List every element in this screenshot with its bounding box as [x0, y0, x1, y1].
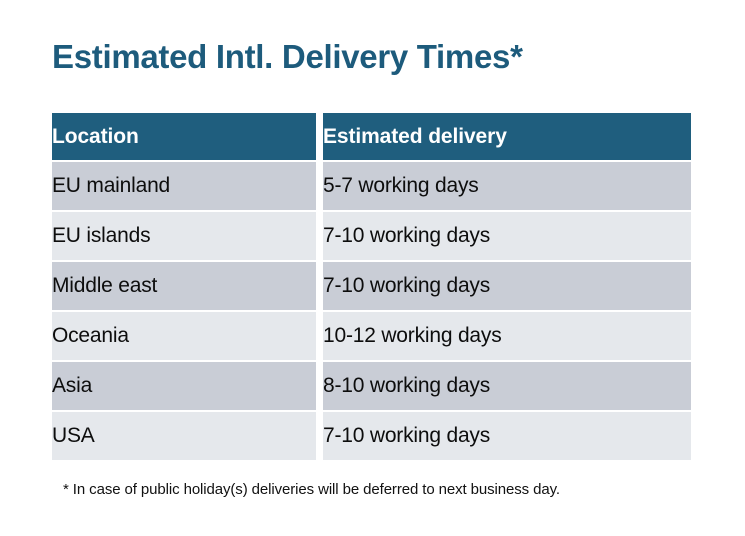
cell-location: Middle east	[52, 262, 316, 310]
table-row: Middle east 7-10 working days	[52, 262, 691, 310]
cell-delivery: 5-7 working days	[323, 162, 691, 210]
cell-location: Asia	[52, 362, 316, 410]
table-header-row: Location Estimated delivery	[52, 113, 691, 160]
column-gap	[316, 312, 323, 360]
column-gap	[316, 212, 323, 260]
column-header-location: Location	[52, 113, 316, 160]
cell-delivery: 7-10 working days	[323, 262, 691, 310]
cell-delivery: 7-10 working days	[323, 412, 691, 460]
page-title: Estimated Intl. Delivery Times*	[52, 38, 523, 76]
column-gap	[316, 362, 323, 410]
table-body: EU mainland 5-7 working days EU islands …	[52, 160, 691, 460]
table-header: Location Estimated delivery	[52, 113, 691, 160]
cell-location: EU mainland	[52, 162, 316, 210]
table-row: EU islands 7-10 working days	[52, 212, 691, 260]
cell-location: EU islands	[52, 212, 316, 260]
cell-delivery: 10-12 working days	[323, 312, 691, 360]
column-gap	[316, 162, 323, 210]
column-gap	[316, 113, 323, 160]
cell-delivery: 8-10 working days	[323, 362, 691, 410]
column-gap	[316, 262, 323, 310]
table-row: Asia 8-10 working days	[52, 362, 691, 410]
footnote: * In case of public holiday(s) deliverie…	[63, 481, 560, 498]
table-row: Oceania 10-12 working days	[52, 312, 691, 360]
cell-location: Oceania	[52, 312, 316, 360]
table-row: USA 7-10 working days	[52, 412, 691, 460]
column-gap	[316, 412, 323, 460]
delivery-times-page: Estimated Intl. Delivery Times* Location…	[0, 0, 745, 536]
table-row: EU mainland 5-7 working days	[52, 162, 691, 210]
column-header-delivery: Estimated delivery	[323, 113, 691, 160]
cell-location: USA	[52, 412, 316, 460]
delivery-times-table: Location Estimated delivery EU mainland …	[52, 113, 691, 460]
cell-delivery: 7-10 working days	[323, 212, 691, 260]
